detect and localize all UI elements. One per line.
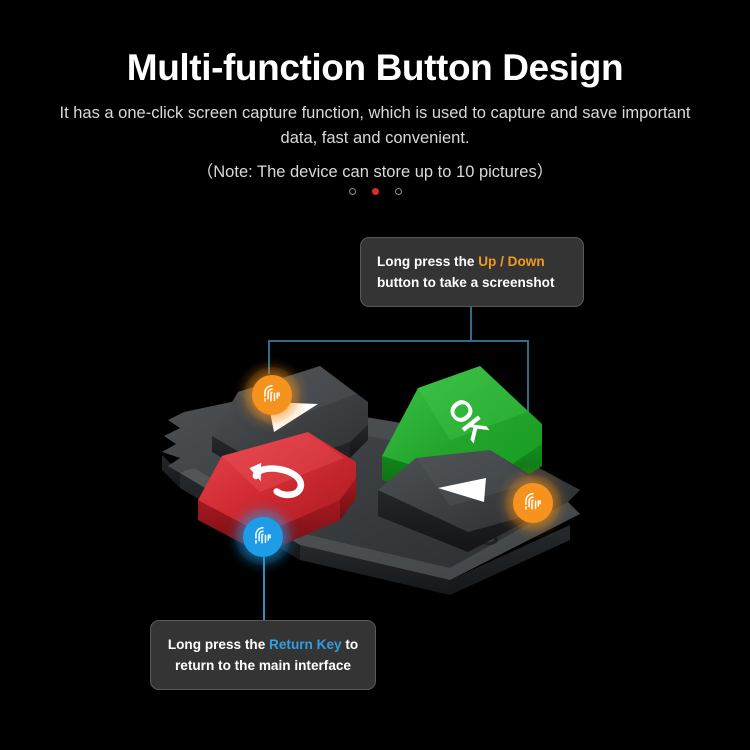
subtitle-line-1: It has a one-click screen capture functi… (59, 104, 617, 122)
header: Multi-function Button Design It has a on… (0, 0, 750, 182)
callout-return-prefix: Long press the (168, 637, 269, 652)
fingerprint-icon (513, 483, 553, 523)
page-subtitle: It has a one-click screen capture functi… (55, 101, 695, 152)
carousel-dot-1[interactable] (349, 188, 356, 195)
callout-screenshot-prefix: Long press the (377, 254, 478, 269)
fingerprint-marker-down (496, 466, 570, 540)
callout-return-line2: return to the main interface (175, 658, 351, 673)
fingerprint-marker-return (226, 500, 300, 574)
fingerprint-icon (243, 517, 283, 557)
callout-screenshot: Long press the Up / Down button to take … (360, 237, 584, 307)
carousel-dot-2[interactable] (372, 188, 379, 195)
callout-screenshot-line2: button to take a screenshot (377, 275, 555, 290)
callout-return-highlight: Return Key (269, 637, 342, 652)
fingerprint-icon (252, 375, 292, 415)
page-root: Multi-function Button Design It has a on… (0, 0, 750, 750)
page-title: Multi-function Button Design (0, 0, 750, 89)
page-note: （Note: The device can store up to 10 pic… (0, 158, 750, 182)
connector-line-top-stem (470, 307, 472, 341)
carousel-dot-3[interactable] (395, 188, 402, 195)
callout-return: Long press the Return Key to return to t… (150, 620, 376, 690)
carousel-dots[interactable] (0, 188, 750, 195)
callout-screenshot-highlight: Up / Down (478, 254, 544, 269)
fingerprint-marker-up (235, 358, 309, 432)
callout-return-suffix: to (342, 637, 359, 652)
